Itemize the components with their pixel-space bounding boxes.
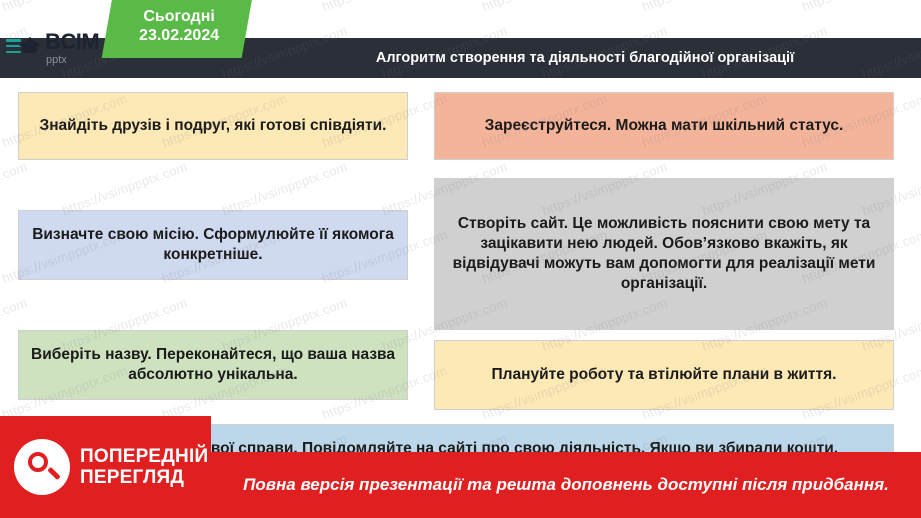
watermark-text: https://vsimppptx.com: [800, 0, 921, 14]
preview-badge-line1: ПОПЕРЕДНІЙ: [80, 446, 208, 467]
step-box-register: Зареєструйтеся. Можна мати шкільний стат…: [434, 92, 894, 160]
graduation-cap-icon: [6, 33, 40, 63]
watermark-text: https://vsimppptx.com: [640, 0, 769, 14]
step-box-friends: Знайдіть друзів і подруг, які готові спі…: [18, 92, 408, 160]
logo-name: BCIM: [45, 31, 99, 53]
watermark-text: https://vsimppptx.com: [320, 0, 449, 14]
slide: Знайдіть друзів і подруг, які готові спі…: [0, 0, 921, 518]
step-box-site: Створіть сайт. Це можливість пояснити св…: [434, 178, 894, 330]
date-badge-value: 23.02.2024: [109, 26, 249, 45]
logo-subtitle: pptx: [46, 55, 99, 66]
bottom-note: Повна версія презентації та решта доповн…: [211, 452, 921, 518]
watermark-text: https://vsimppptx.com: [480, 0, 609, 14]
page-title: Алгоритм створення та діяльності благоді…: [260, 38, 910, 78]
step-box-mission: Визначте свою місію. Сформулюйте її яком…: [18, 210, 408, 280]
magnifier-icon: [14, 439, 70, 495]
preview-badge: ПОПЕРЕДНІЙ ПЕРЕГЛЯД: [0, 416, 211, 518]
step-box-plan: Плануйте роботу та втілюйте плани в житт…: [434, 340, 894, 410]
date-badge-label: Сьогодні: [109, 8, 249, 26]
preview-badge-line2: ПЕРЕГЛЯД: [80, 467, 208, 488]
date-badge: Сьогодні 23.02.2024: [102, 0, 255, 58]
step-box-name: Виберіть назву. Переконайтеся, що ваша н…: [18, 330, 408, 400]
